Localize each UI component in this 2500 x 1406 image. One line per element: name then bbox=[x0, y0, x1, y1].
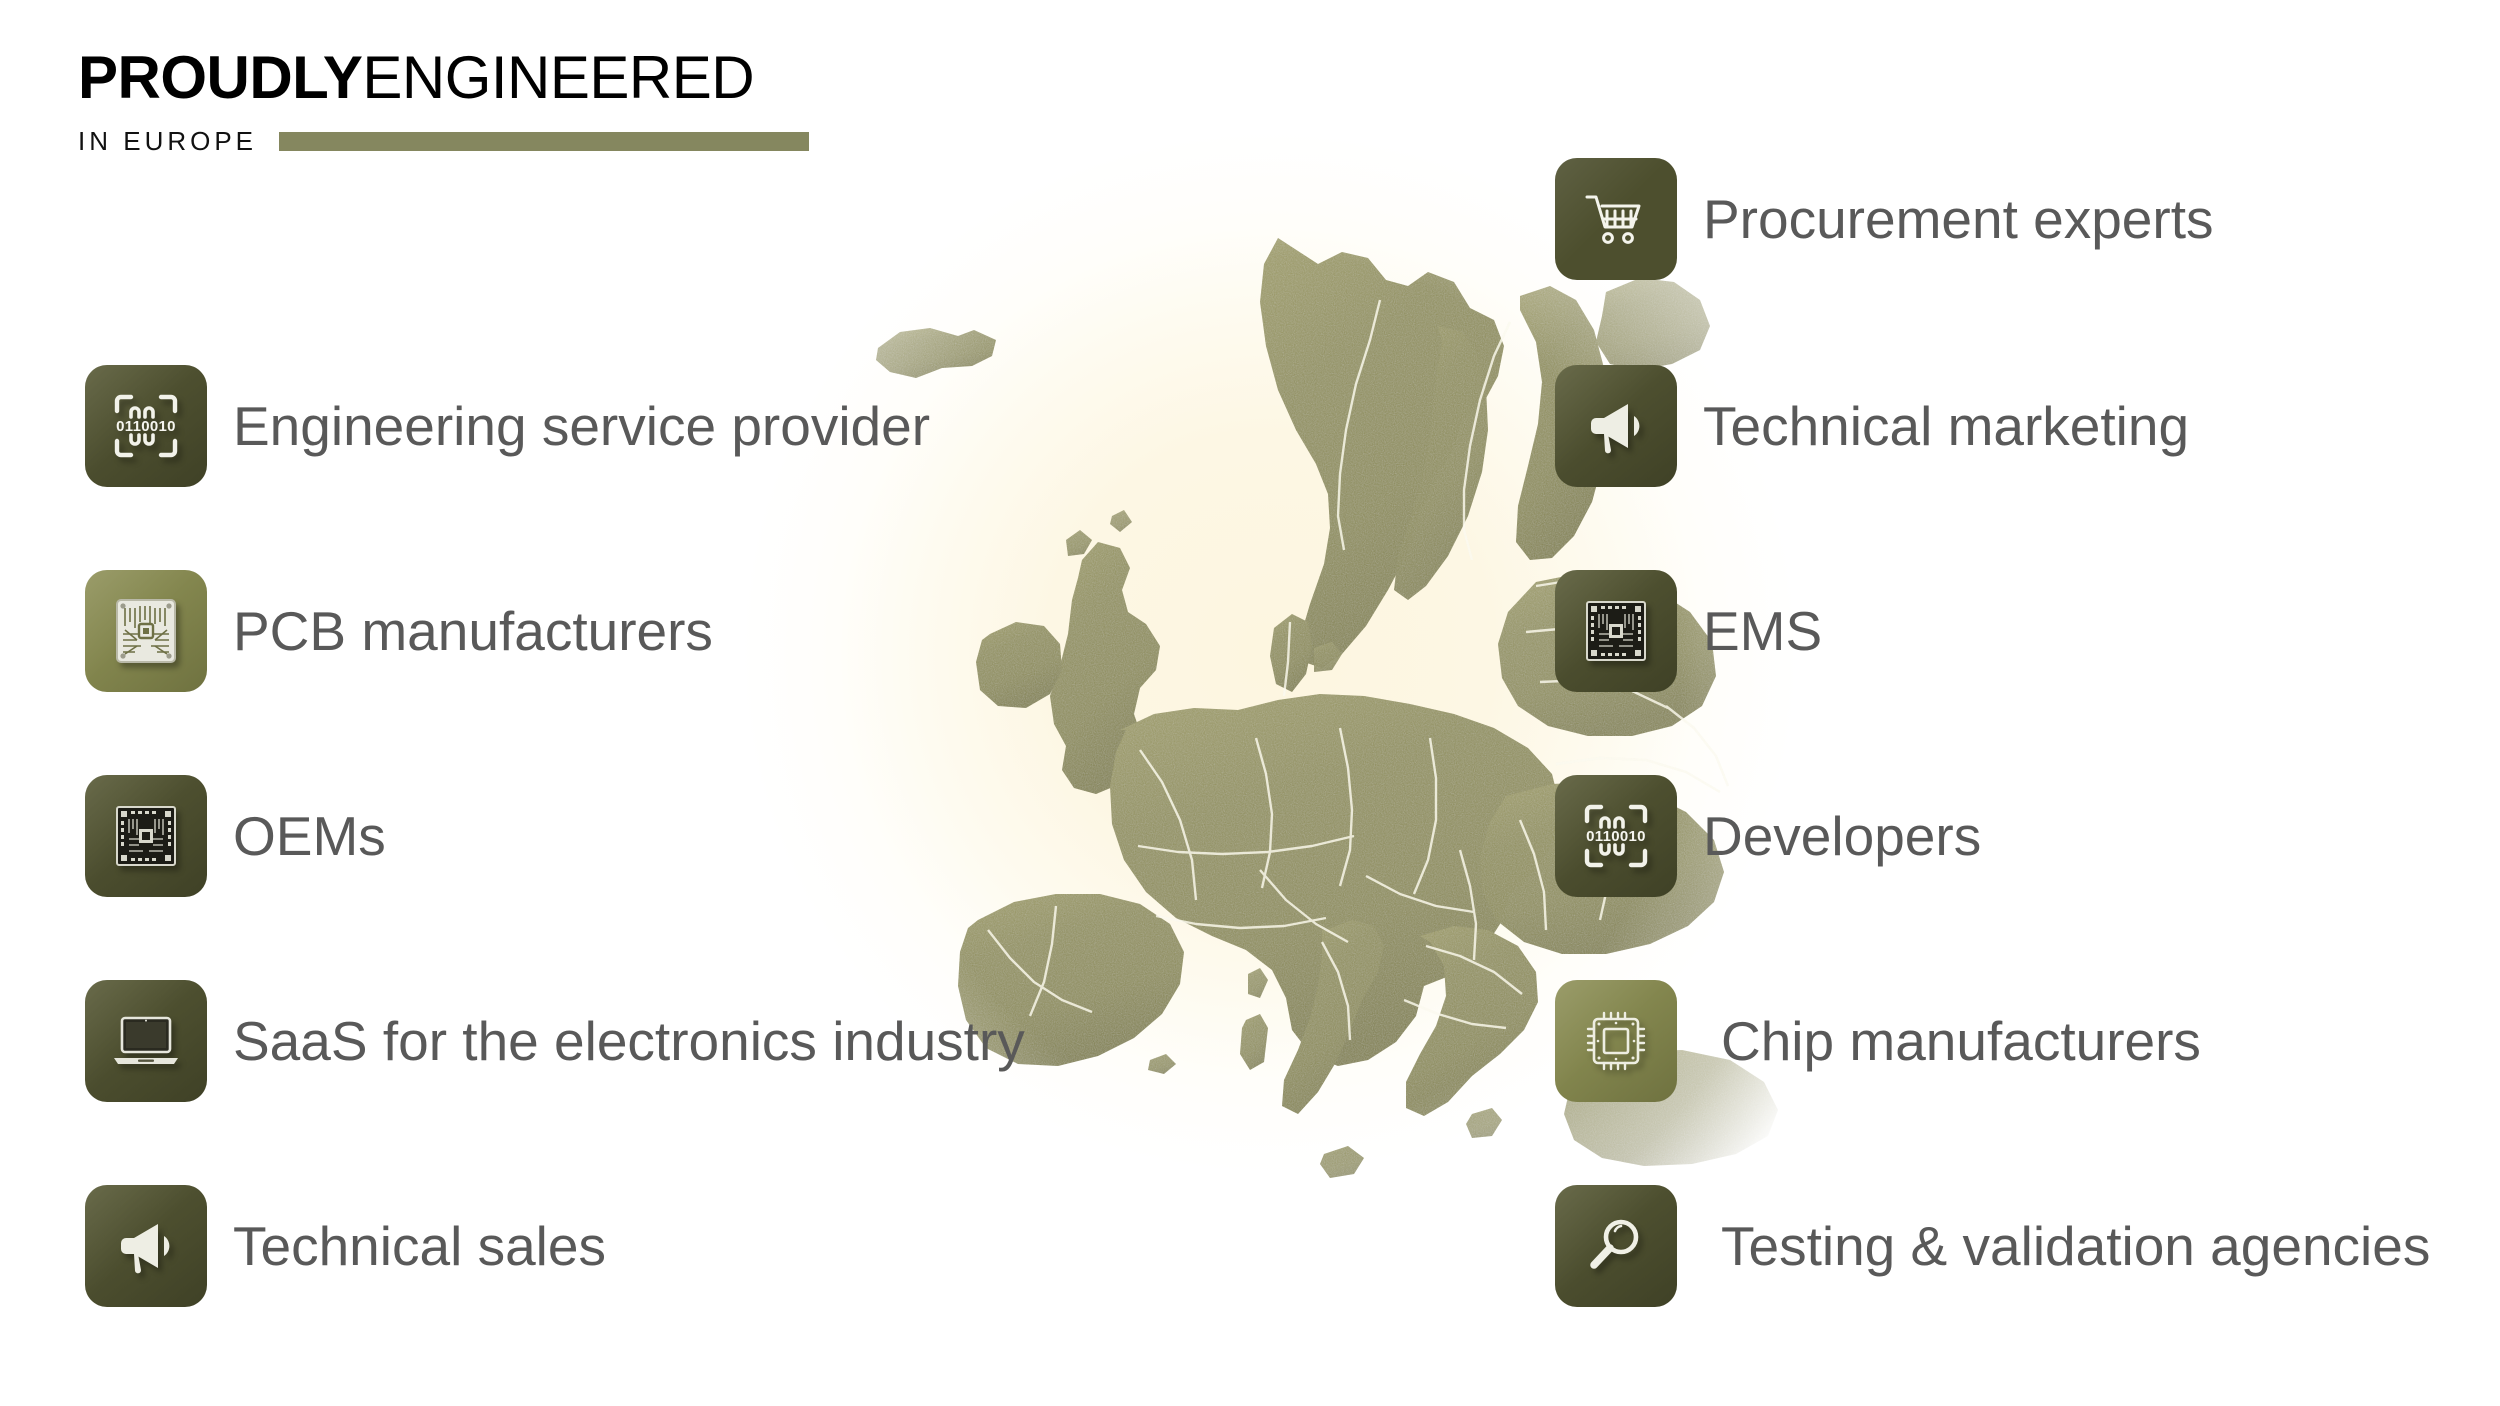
laptop-icon bbox=[85, 980, 207, 1102]
feature-item-engineering-service-provider[interactable]: 0110010 Engineering service provider bbox=[85, 365, 930, 487]
feature-label: Developers bbox=[1703, 809, 1981, 864]
feature-item-pcb-manufacturers[interactable]: PCB manufacturers bbox=[85, 570, 713, 692]
pcb-chip-icon bbox=[85, 775, 207, 897]
slide-canvas: PROUDLYENGINEERED IN EUROPE bbox=[0, 0, 2500, 1406]
logo-subtitle-row: IN EUROPE bbox=[78, 126, 898, 157]
feature-item-testing-validation[interactable]: Testing & validation agencies bbox=[1555, 1185, 2430, 1307]
feature-label: OEMs bbox=[233, 809, 386, 864]
binary-scan-icon: 0110010 bbox=[1555, 775, 1677, 897]
microchip-icon bbox=[1555, 980, 1677, 1102]
binary-scan-icon: 0110010 bbox=[85, 365, 207, 487]
shopping-cart-icon bbox=[1555, 158, 1677, 280]
feature-label: Engineering service provider bbox=[233, 399, 930, 454]
feature-label: PCB manufacturers bbox=[233, 604, 713, 659]
feature-item-saas[interactable]: SaaS for the electronics industry bbox=[85, 980, 1025, 1102]
magnifier-icon bbox=[1555, 1185, 1677, 1307]
brand-logo: PROUDLYENGINEERED IN EUROPE bbox=[78, 48, 898, 157]
feature-label: Chip manufacturers bbox=[1721, 1014, 2201, 1069]
logo-subtitle: IN EUROPE bbox=[78, 126, 257, 157]
logo-title: PROUDLYENGINEERED bbox=[78, 48, 898, 108]
feature-label: EMS bbox=[1703, 604, 1822, 659]
feature-label: Testing & validation agencies bbox=[1721, 1219, 2430, 1274]
logo-word-light: ENGINEERED bbox=[362, 44, 754, 111]
logo-word-bold: PROUDLY bbox=[78, 44, 362, 111]
feature-label: Technical marketing bbox=[1703, 399, 2189, 454]
feature-label: Procurement experts bbox=[1703, 192, 2214, 247]
logo-accent-bar bbox=[279, 132, 809, 151]
feature-label: SaaS for the electronics industry bbox=[233, 1014, 1025, 1069]
feature-item-ems[interactable]: EMS bbox=[1555, 570, 1822, 692]
pcb-chip-icon bbox=[1555, 570, 1677, 692]
feature-item-technical-marketing[interactable]: Technical marketing bbox=[1555, 365, 2189, 487]
svg-text:0110010: 0110010 bbox=[1586, 828, 1646, 845]
megaphone-icon bbox=[1555, 365, 1677, 487]
feature-item-oems[interactable]: OEMs bbox=[85, 775, 386, 897]
feature-item-procurement-experts[interactable]: Procurement experts bbox=[1555, 158, 2214, 280]
megaphone-icon bbox=[85, 1185, 207, 1307]
svg-text:0110010: 0110010 bbox=[116, 418, 176, 435]
feature-item-chip-manufacturers[interactable]: Chip manufacturers bbox=[1555, 980, 2201, 1102]
feature-item-developers[interactable]: 0110010 Developers bbox=[1555, 775, 1981, 897]
pcb-board-icon bbox=[85, 570, 207, 692]
feature-item-technical-sales[interactable]: Technical sales bbox=[85, 1185, 606, 1307]
feature-label: Technical sales bbox=[233, 1219, 606, 1274]
